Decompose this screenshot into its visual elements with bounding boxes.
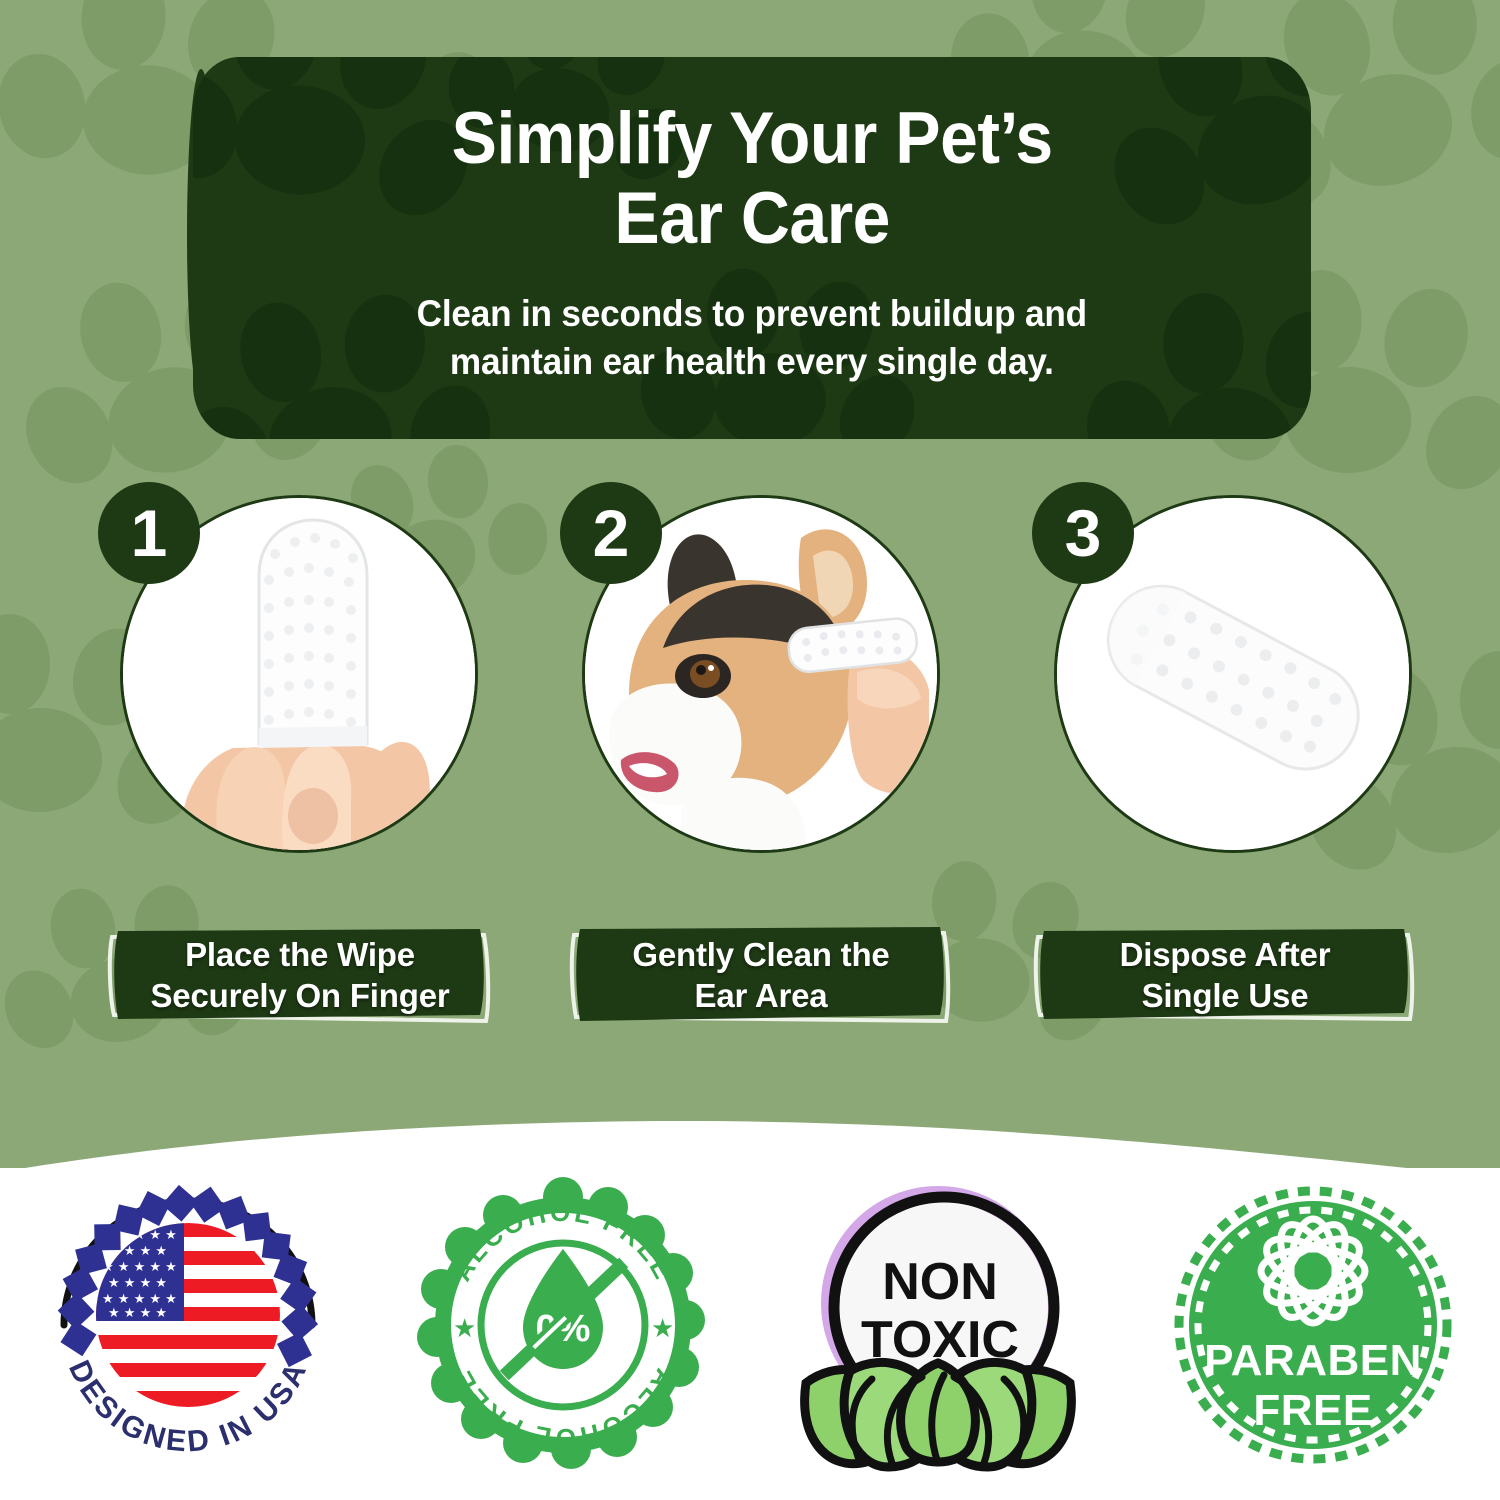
badge-paraben-free-line-1: PARABEN (1204, 1336, 1422, 1385)
badge-alcohol-free: 0% ★ ★ ALCOHOL FREE ALCOHOL FREE (413, 1175, 713, 1475)
subtitle-line-1: Clean in seconds to prevent buildup and (417, 290, 1087, 339)
step-1-caption-banner: Place the Wipe Securely On Finger (104, 921, 496, 1029)
step-3: 3 (1032, 470, 1392, 870)
star-icon-right: ★ (651, 1314, 674, 1344)
page-subtitle: Clean in seconds to prevent buildup and … (417, 290, 1087, 388)
step-1-caption-line-1: Place the Wipe (151, 934, 450, 975)
step-2-caption-line-1: Gently Clean the (632, 934, 889, 975)
step-3-caption-banner: Dispose After Single Use (1030, 921, 1420, 1029)
certification-badges-row: ★ ★ ★ ★ ★ ★ ★ ★ ★ ★ ★ ★ ★ ★ ★ ★ ★ ★ ★ ★ … (0, 1160, 1500, 1490)
svg-text:★ ★ ★ ★: ★ ★ ★ ★ (108, 1276, 167, 1291)
step-2-number-badge: 2 (560, 482, 662, 584)
step-3-number: 3 (1065, 500, 1102, 566)
step-1-number: 1 (131, 500, 168, 566)
svg-text:★ ★ ★ ★: ★ ★ ★ ★ (108, 1306, 167, 1321)
badge-designed-in-usa: ★ ★ ★ ★ ★ ★ ★ ★ ★ ★ ★ ★ ★ ★ ★ ★ ★ ★ ★ ★ … (38, 1175, 338, 1475)
step-1: 1 (98, 470, 458, 870)
star-icon-left: ★ (453, 1314, 476, 1344)
paraben-free-seal-icon: PARABEN FREE (1163, 1175, 1463, 1475)
step-1-caption-line-2: Securely On Finger (151, 975, 450, 1016)
badge-paraben-free: PARABEN FREE (1163, 1175, 1463, 1475)
step-2-caption-banner: Gently Clean the Ear Area (566, 921, 956, 1029)
step-2: 2 (560, 470, 920, 870)
svg-text:★ ★ ★ ★ ★: ★ ★ ★ ★ ★ (102, 1292, 177, 1307)
subtitle-line-2: maintain ear health every single day. (417, 338, 1087, 387)
step-3-caption-line-2: Single Use (1120, 975, 1331, 1016)
infographic-root: Simplify Your Pet’s Ear Care Clean in se… (0, 0, 1500, 1500)
step-1-number-badge: 1 (98, 482, 200, 584)
badge-paraben-free-line-2: FREE (1253, 1386, 1372, 1435)
title-line-1: Simplify Your Pet’s (451, 99, 1052, 179)
leaves-icon (804, 1362, 1071, 1467)
step-2-number: 2 (593, 500, 630, 566)
steps-row: 1 (0, 470, 1500, 890)
svg-text:★ ★ ★ ★ ★: ★ ★ ★ ★ ★ (102, 1260, 177, 1275)
title-line-2: Ear Care (451, 179, 1052, 259)
step-1-caption-text: Place the Wipe Securely On Finger (133, 934, 468, 1017)
badge-non-toxic: NON TOXIC (788, 1175, 1088, 1475)
step-3-number-badge: 3 (1032, 482, 1134, 584)
header-text-block: Simplify Your Pet’s Ear Care Clean in se… (193, 57, 1311, 439)
alcohol-free-seal-icon: 0% ★ ★ ALCOHOL FREE ALCOHOL FREE (413, 1175, 713, 1475)
step-3-caption-line-1: Dispose After (1120, 934, 1331, 975)
step-2-caption-line-2: Ear Area (632, 975, 889, 1016)
usa-flag-circle-icon: ★ ★ ★ ★ ★ ★ ★ ★ ★ ★ ★ ★ ★ ★ ★ ★ ★ ★ ★ ★ … (38, 1175, 338, 1475)
badge-non-toxic-line-1: NON (882, 1253, 998, 1311)
step-2-caption-text: Gently Clean the Ear Area (614, 934, 907, 1017)
non-toxic-seal-icon: NON TOXIC (788, 1175, 1088, 1475)
step-3-caption-text: Dispose After Single Use (1102, 934, 1349, 1017)
page-title: Simplify Your Pet’s Ear Care (451, 99, 1052, 260)
